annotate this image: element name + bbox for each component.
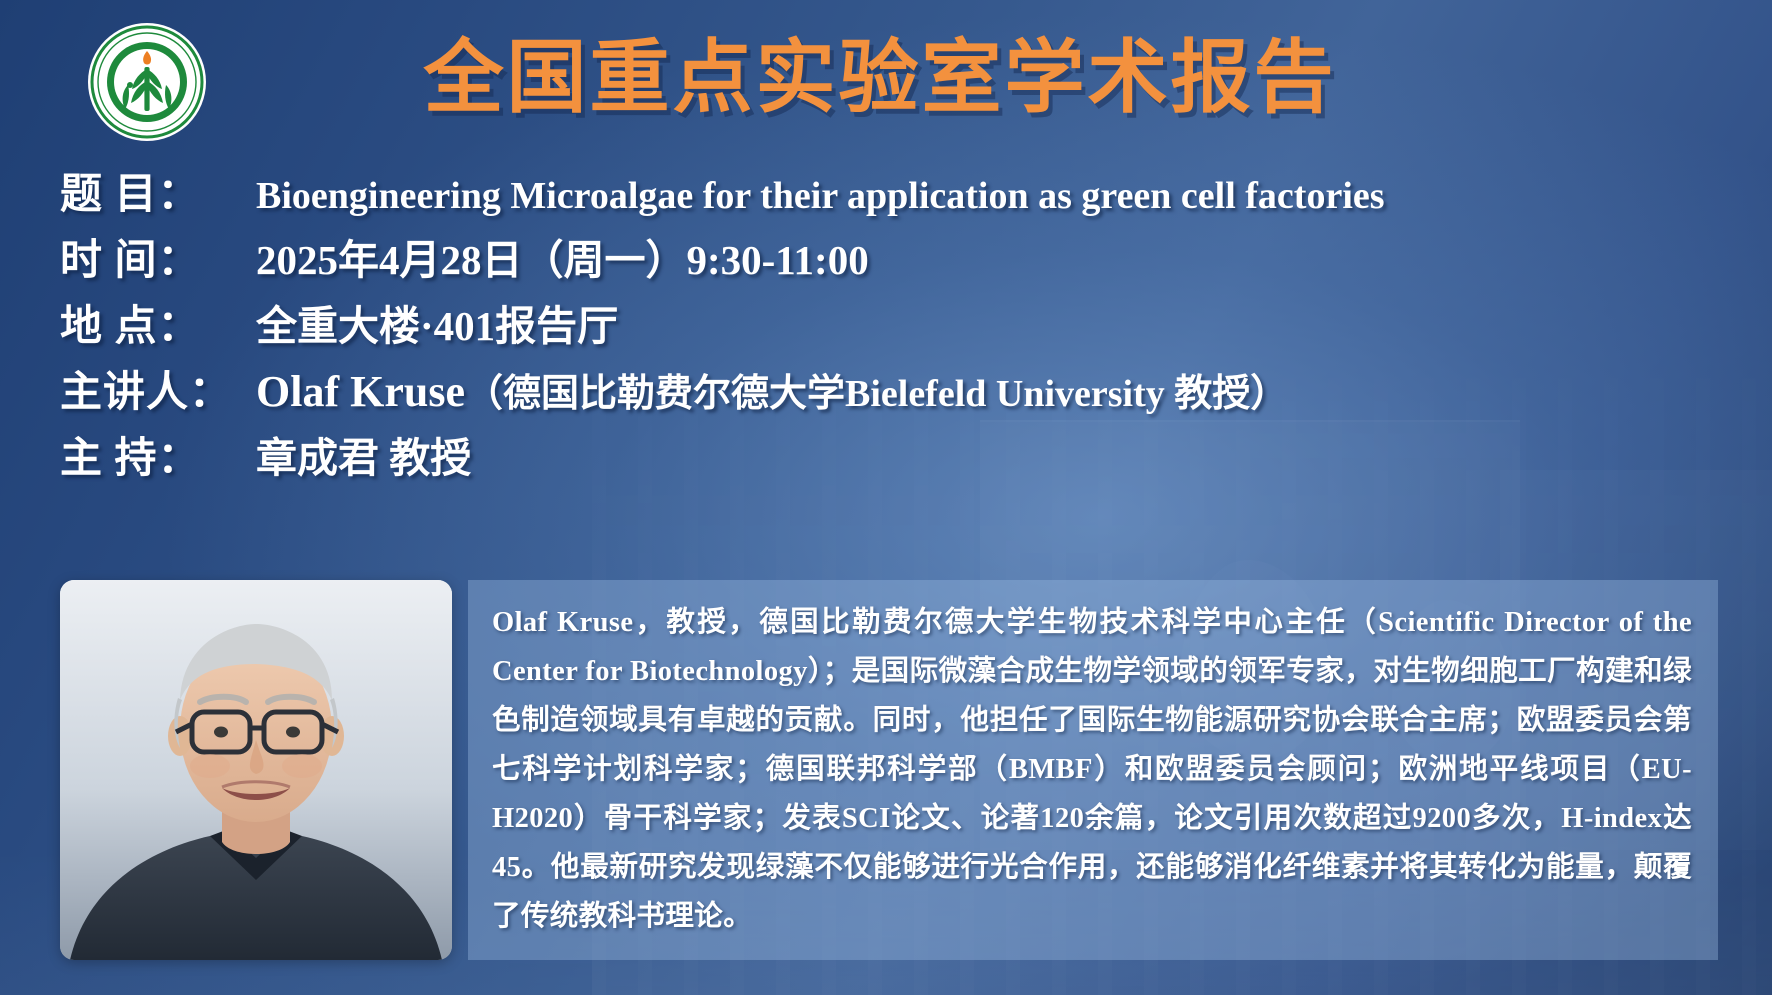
detail-value-topic: Bioengineering Microalgae for their appl… (256, 174, 1385, 218)
speaker-name: Olaf Kruse (256, 367, 465, 416)
detail-row-topic: 题 目： Bioengineering Microalgae for their… (60, 160, 1760, 226)
detail-row-venue: 地 点： 全重大楼·401报告厅 (60, 292, 1760, 358)
detail-label-time: 时 间： (60, 226, 256, 287)
detail-value-host: 章成君 教授 (256, 424, 471, 484)
speaker-bio-panel: Olaf Kruse，教授，德国比勒费尔德大学生物技术科学中心主任（Scient… (468, 580, 1718, 960)
speaker-bio-text: Olaf Kruse，教授，德国比勒费尔德大学生物技术科学中心主任（Scient… (492, 598, 1692, 941)
lab-emblem-icon (88, 23, 206, 141)
detail-value-speaker: Olaf Kruse（德国比勒费尔德大学Bielefeld University… (256, 362, 1288, 417)
detail-label-speaker: 主讲人： (60, 358, 256, 419)
detail-row-host: 主 持： 章成君 教授 (60, 424, 1760, 490)
speaker-portrait (60, 580, 452, 960)
page-title: 全国重点实验室学术报告 (330, 26, 1430, 130)
detail-value-venue: 全重大楼·401报告厅 (256, 292, 618, 352)
seminar-poster: 全国重点实验室学术报告 题 目： Bioengineering Microalg… (0, 0, 1772, 995)
speaker-affiliation: （德国比勒费尔德大学Bielefeld University 教授） (465, 373, 1288, 415)
detail-value-time: 2025年4月28日（周一）9:30-11:00 (256, 226, 869, 286)
detail-label-host: 主 持： (60, 424, 256, 485)
detail-label-topic: 题 目： (60, 160, 256, 221)
event-details: 题 目： Bioengineering Microalgae for their… (60, 160, 1760, 490)
detail-label-venue: 地 点： (60, 292, 256, 353)
detail-row-speaker: 主讲人： Olaf Kruse（德国比勒费尔德大学Bielefeld Unive… (60, 358, 1760, 424)
poster-header: 全国重点实验室学术报告 (0, 0, 1772, 150)
detail-row-time: 时 间： 2025年4月28日（周一）9:30-11:00 (60, 226, 1760, 292)
